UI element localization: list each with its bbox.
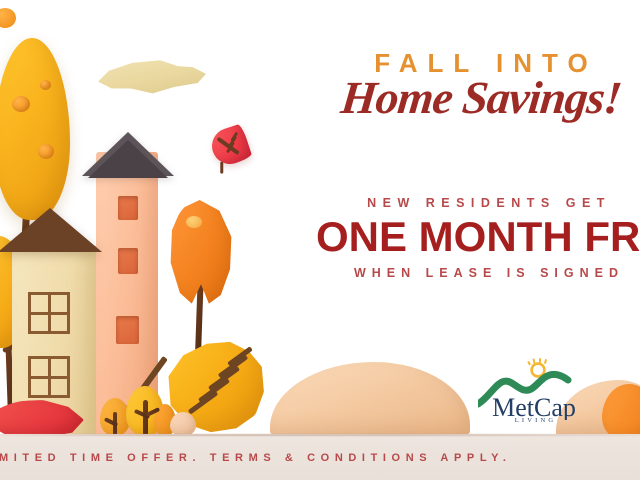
metcap-logo: MetCap LIVING <box>478 358 590 432</box>
ground-mound-center-icon <box>270 362 470 436</box>
tree-orange-berry-icon <box>186 216 202 228</box>
house-peach-window-icon <box>118 196 138 220</box>
house-peach-window-icon <box>118 248 138 274</box>
offer-eyebrow: NEW RESIDENTS GET <box>316 196 640 210</box>
promo-banner: FALL INTO Home Savings! NEW RESIDENTS GE… <box>0 0 640 480</box>
berry-icon <box>0 8 16 28</box>
cloud-icon <box>97 53 206 97</box>
offer-headline: ONE MONTH FREE <box>316 216 640 259</box>
red-leaf-icon <box>207 123 252 168</box>
window-pane <box>31 295 67 331</box>
pebble-icon <box>170 412 196 436</box>
window-pane <box>31 359 67 395</box>
headline-script: Home Savings! <box>313 74 640 122</box>
footer-disclaimer: LIMITED TIME OFFER. TERMS & CONDITIONS A… <box>0 452 478 464</box>
ground-horizon-line <box>0 434 640 436</box>
sun-icon <box>527 358 547 376</box>
headline-block: FALL INTO Home Savings! <box>316 50 640 122</box>
house-cream-window-icon <box>28 292 70 334</box>
house-peach-window-icon <box>116 316 139 344</box>
house-cream-roof-icon <box>0 208 102 252</box>
leaf-stem-icon <box>220 162 223 174</box>
tree-yellow-large-icon <box>0 38 70 220</box>
house-peach-roof-inner-icon <box>88 140 168 178</box>
tree-berry-icon <box>12 96 30 112</box>
tree-berry-icon <box>40 80 51 90</box>
logo-brand-text: MetCap <box>492 393 576 420</box>
tree-berry-icon <box>38 144 54 159</box>
hills-sun-icon: MetCap <box>478 358 590 420</box>
offer-block: NEW RESIDENTS GET ONE MONTH FREE WHEN LE… <box>316 196 640 280</box>
house-cream-window-icon <box>28 356 70 398</box>
offer-condition: WHEN LEASE IS SIGNED <box>316 266 640 280</box>
